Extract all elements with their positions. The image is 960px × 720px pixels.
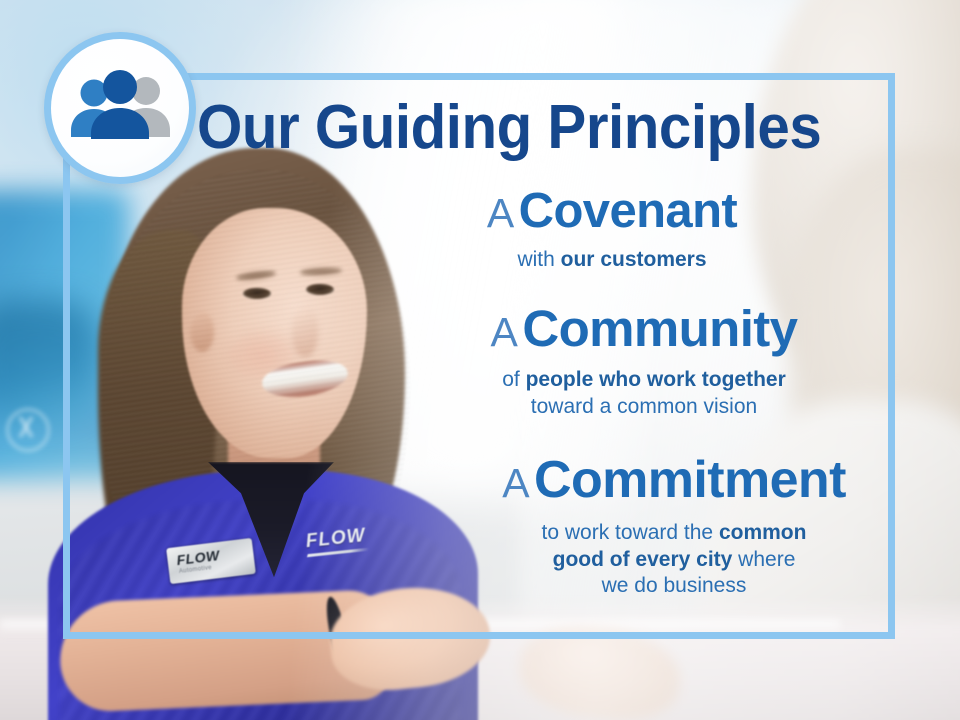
principle-heading: A Commitment (468, 453, 880, 508)
banner-canvas: FLOW Automotive FLOW Our Guiding Princip… (0, 0, 960, 720)
principle-word: Covenant (519, 184, 737, 238)
principle-subtext-line: to work toward the common (468, 520, 880, 547)
text-run: with (517, 248, 560, 271)
principle-word: Community (522, 300, 797, 357)
text-run-bold: common (719, 521, 807, 544)
principle-word: Commitment (534, 451, 846, 509)
text-run-bold: people who work together (526, 368, 786, 391)
principle-article: A (502, 460, 529, 506)
principle-heading: A Covenant (344, 186, 880, 238)
principle-subtext: of people who work together toward a com… (408, 367, 880, 421)
principle-subtext-line: toward a common vision (408, 394, 880, 421)
name-badge-brand: FLOW (176, 547, 221, 568)
text-run: to work toward the (542, 521, 719, 544)
principle-subtext-line: we do business (468, 573, 880, 600)
principle-commitment: A Commitment to work toward the common g… (468, 453, 880, 601)
principle-community: A Community of people who work together … (408, 302, 880, 421)
principle-covenant: A Covenant with our customers (344, 186, 880, 274)
principles-list: A Covenant with our customers A Communit… (320, 186, 880, 606)
text-run: of (502, 368, 525, 391)
second-person-hand (516, 620, 685, 720)
page-title: Our Guiding Principles (29, 96, 931, 159)
principle-subtext-line: of people who work together (408, 367, 880, 394)
principle-article: A (491, 309, 518, 355)
principle-subtext-line: with our customers (344, 247, 880, 274)
text-run-bold: our customers (561, 248, 707, 271)
text-run: where (732, 548, 795, 571)
principle-article: A (487, 190, 514, 236)
text-run-bold: good of every city (553, 548, 733, 571)
principle-heading: A Community (408, 302, 880, 356)
principle-subtext: with our customers (344, 247, 880, 274)
principle-subtext-line: good of every city where (468, 547, 880, 574)
principle-subtext: to work toward the common good of every … (468, 520, 880, 601)
